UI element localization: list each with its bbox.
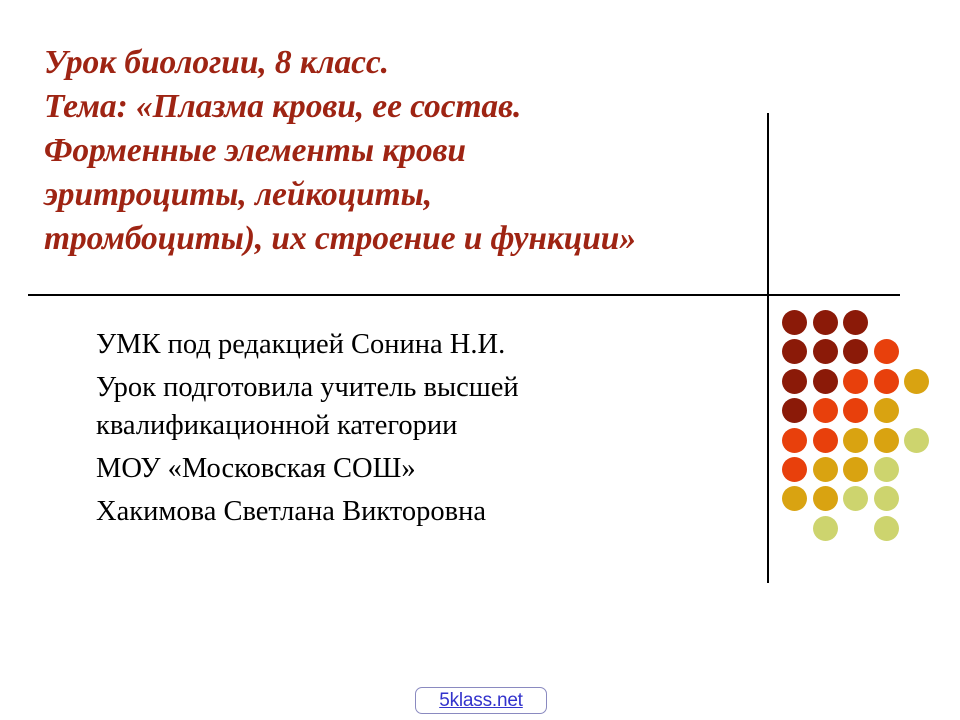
dot-icon: [813, 457, 838, 482]
dot-icon: [782, 369, 807, 394]
body-line: Хакимова Светлана Викторовна: [96, 493, 736, 531]
dot-icon: [782, 457, 807, 482]
dot-icon: [782, 339, 807, 364]
slide-title: Урок биологии, 8 класс. Тема: «Плазма кр…: [44, 41, 904, 261]
dot-icon: [874, 369, 899, 394]
dot-icon: [813, 428, 838, 453]
dot-icon: [874, 457, 899, 482]
dot-icon: [874, 398, 899, 423]
dot-row: [782, 339, 932, 368]
dot-icon: [813, 516, 838, 541]
dot-icon: [782, 310, 807, 335]
title-line-1: Урок биологии, 8 класс.: [44, 41, 904, 85]
dot-icon: [782, 398, 807, 423]
slide: Урок биологии, 8 класс. Тема: «Плазма кр…: [0, 0, 960, 720]
body-line: МОУ «Московская СОШ»: [96, 450, 736, 488]
dot-icon: [874, 339, 899, 364]
dot-icon: [813, 398, 838, 423]
footer-link[interactable]: 5klass.net: [439, 691, 523, 711]
dot-row: [782, 457, 932, 486]
dot-icon: [843, 486, 868, 511]
body-line: квалификационной категории: [96, 407, 736, 445]
body-paragraph-2: Урок подготовила учитель высшей квалифик…: [96, 369, 736, 445]
horizontal-divider: [28, 294, 900, 296]
dot-icon: [813, 310, 838, 335]
title-line-2: Тема: «Плазма крови, ее состав.: [44, 85, 904, 129]
dot-icon: [813, 339, 838, 364]
dot-icon: [782, 428, 807, 453]
dot-icon: [874, 428, 899, 453]
vertical-divider: [767, 113, 769, 583]
dot-row: [782, 398, 932, 427]
slide-body: УМК под редакцией Сонина Н.И. Урок подго…: [96, 326, 736, 531]
dot-row: [782, 428, 932, 457]
body-line: Урок подготовила учитель высшей: [96, 369, 736, 407]
dot-icon: [904, 369, 929, 394]
title-line-5: тромбоциты), их строение и функции»: [44, 217, 904, 261]
dot-row: [782, 516, 932, 545]
dot-icon: [843, 310, 868, 335]
dot-icon: [904, 428, 929, 453]
dot-icon: [843, 428, 868, 453]
dot-icon: [843, 457, 868, 482]
body-line: УМК под редакцией Сонина Н.И.: [96, 326, 736, 364]
dot-row: [782, 486, 932, 515]
title-line-3: Форменные элементы крови: [44, 129, 904, 173]
dot-icon: [843, 398, 868, 423]
dot-icon: [843, 369, 868, 394]
dot-icon: [813, 369, 838, 394]
dot-icon: [874, 486, 899, 511]
dot-row: [782, 310, 932, 339]
body-paragraph-3: МОУ «Московская СОШ»: [96, 450, 736, 488]
dot-icon: [874, 516, 899, 541]
title-line-4: эритроциты, лейкоциты,: [44, 173, 904, 217]
dot-row: [782, 369, 932, 398]
footer-badge[interactable]: 5klass.net: [415, 687, 547, 714]
dot-icon: [813, 486, 838, 511]
dot-grid-decoration: [782, 310, 932, 550]
dot-icon: [843, 339, 868, 364]
body-paragraph-4: Хакимова Светлана Викторовна: [96, 493, 736, 531]
body-paragraph-1: УМК под редакцией Сонина Н.И.: [96, 326, 736, 364]
dot-icon: [782, 486, 807, 511]
